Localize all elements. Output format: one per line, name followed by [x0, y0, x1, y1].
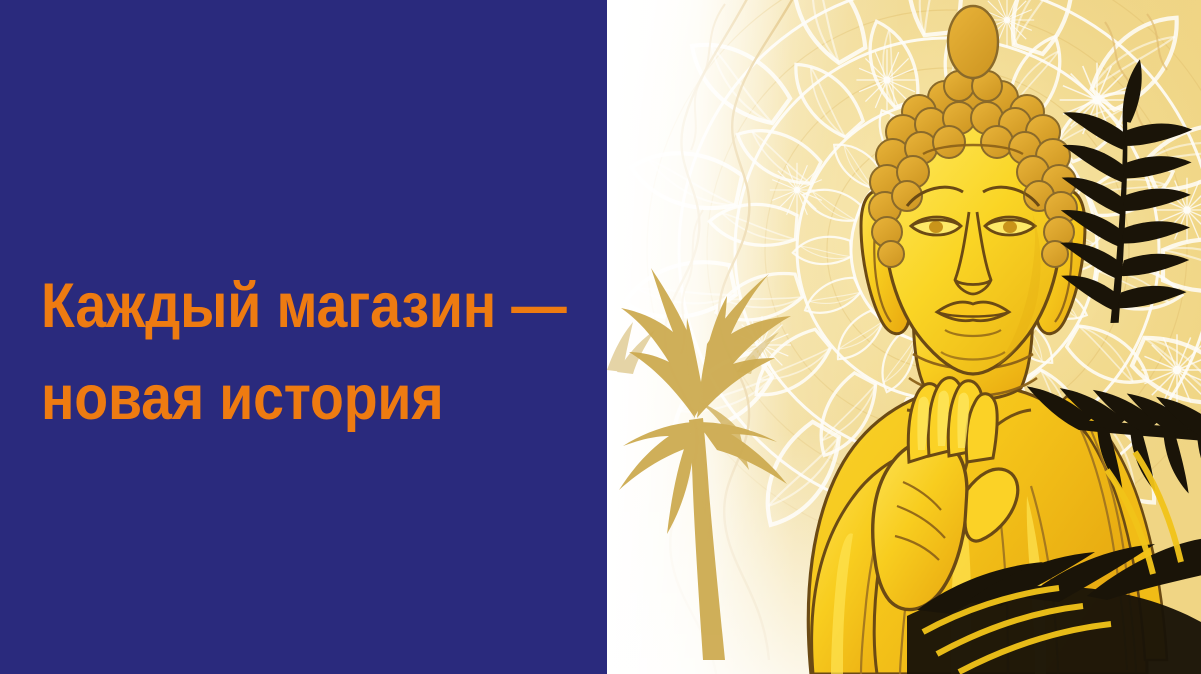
- headline: Каждый магазин — новая история: [41, 260, 516, 444]
- buddha-ushnisha: [948, 6, 998, 78]
- headline-line-2: новая история: [41, 352, 516, 444]
- headline-line-1: Каждый магазин —: [41, 260, 516, 352]
- buddha-artwork-panel: [607, 0, 1201, 674]
- promo-banner: Каждый магазин — новая история: [0, 0, 1201, 674]
- text-panel: Каждый магазин — новая история: [0, 0, 607, 674]
- buddha-illustration: [607, 0, 1201, 674]
